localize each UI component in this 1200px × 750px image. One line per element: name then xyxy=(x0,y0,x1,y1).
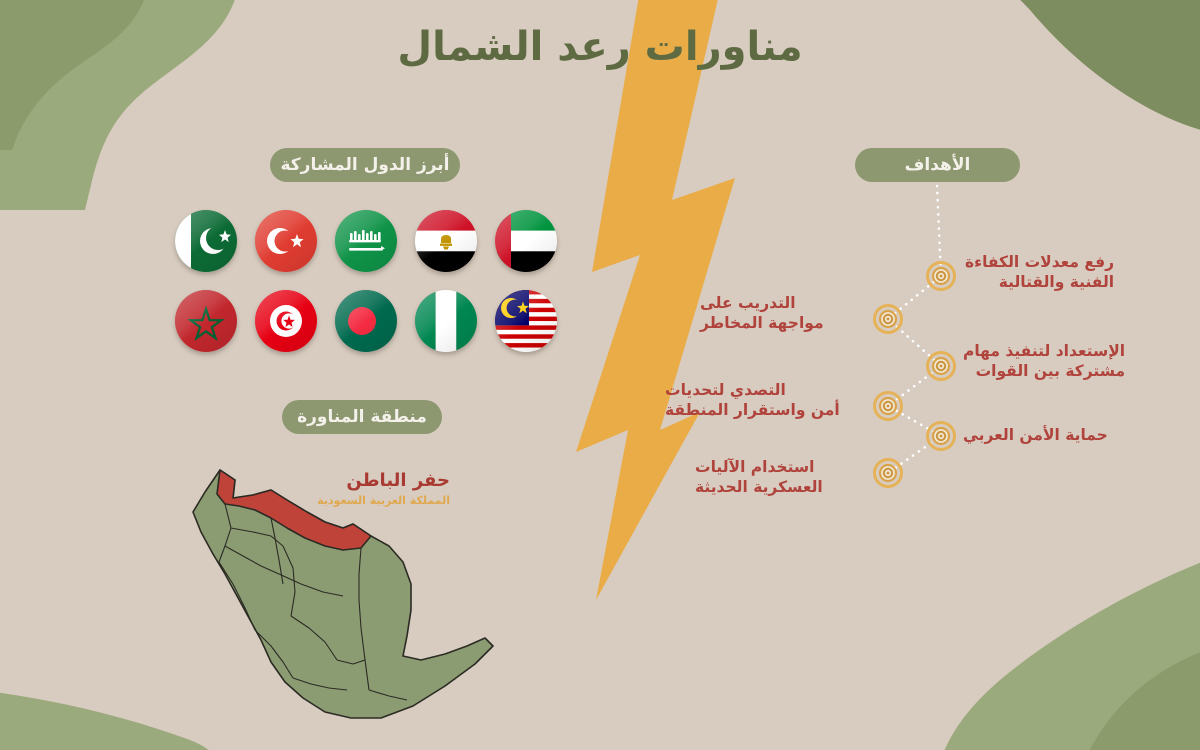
objective-marker-2[interactable] xyxy=(873,304,903,334)
objective-text-3: الإستعداد لتنفيذ مهام مشتركة بين القوات xyxy=(963,341,1125,382)
infographic-canvas: مناورات رعد الشمال أبرز الدول المشاركة ا… xyxy=(0,0,1200,750)
objective-marker-3[interactable] xyxy=(926,351,956,381)
objective-text-4: التصدي لتحديات أمن واستقرار المنطقة xyxy=(665,380,840,421)
objective-text-5: حماية الأمن العربي xyxy=(963,425,1108,445)
page-title: مناورات رعد الشمال xyxy=(0,24,1200,70)
map-city-label: حفر الباطن xyxy=(300,470,450,491)
objectives-list: رفع معدلات الكفاءة الفنية والقتالية التد… xyxy=(0,0,1200,750)
map-country-label: المملكة العربية السعودية xyxy=(300,494,450,507)
objective-text-6: استخدام الآليات العسكرية الحديثة xyxy=(695,457,823,498)
objective-marker-4[interactable] xyxy=(873,391,903,421)
objective-text-2: التدريب على مواجهة المخاطر xyxy=(700,293,824,334)
objective-text-1: رفع معدلات الكفاءة الفنية والقتالية xyxy=(965,252,1114,293)
objective-marker-1[interactable] xyxy=(926,261,956,291)
objective-marker-5[interactable] xyxy=(926,421,956,451)
objective-marker-6[interactable] xyxy=(873,458,903,488)
